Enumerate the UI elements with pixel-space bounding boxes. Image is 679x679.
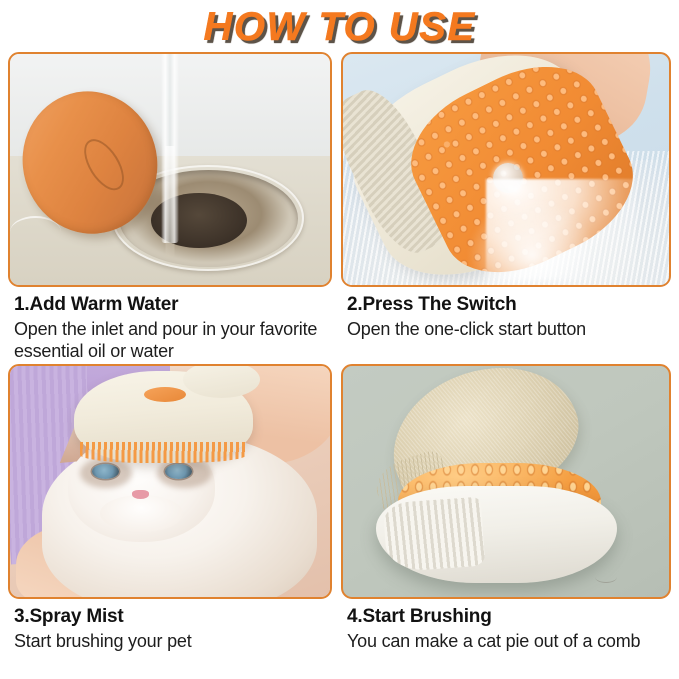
- power-button: [144, 387, 186, 402]
- step-card-1: 1.Add Warm Water Open the inlet and pour…: [0, 52, 332, 364]
- step-2-caption: 2.Press The Switch Open the one-click st…: [341, 287, 671, 340]
- cat-eye-left: [92, 464, 119, 479]
- how-to-use-infographic: HOW TO USE 1.Add Warm Water Open th: [0, 0, 679, 679]
- brush-bristle-row: [80, 442, 246, 463]
- water-stream-highlight: [166, 146, 175, 257]
- step-1-body: Open the inlet and pour in your favorite…: [14, 318, 332, 362]
- step-1-caption: 1.Add Warm Water Open the inlet and pour…: [8, 287, 332, 362]
- step-4-heading: 4.Start Brushing: [347, 605, 671, 629]
- lid-groove: [75, 133, 130, 197]
- steps-grid: 1.Add Warm Water Open the inlet and pour…: [0, 52, 679, 679]
- page-title: HOW TO USE: [203, 5, 475, 50]
- step-3-caption: 3.Spray Mist Start brushing your pet: [8, 599, 332, 652]
- cat-muzzle: [100, 495, 183, 532]
- step-4-caption: 4.Start Brushing You can make a cat pie …: [341, 599, 671, 652]
- step-4-photo: [341, 364, 671, 599]
- step-card-4: 4.Start Brushing You can make a cat pie …: [332, 364, 679, 679]
- steam-plume-lower: [467, 197, 597, 280]
- cat-nose: [132, 490, 150, 499]
- step-card-3: 3.Spray Mist Start brushing your pet: [0, 364, 332, 679]
- step-3-body: Start brushing your pet: [14, 630, 332, 652]
- step-2-body: Open the one-click start button: [347, 318, 671, 340]
- step-4-body: You can make a cat pie out of a comb: [347, 630, 671, 652]
- brand-mark-icon: [595, 571, 617, 583]
- step-2-heading: 2.Press The Switch: [347, 293, 671, 317]
- step-1-heading: 1.Add Warm Water: [14, 293, 332, 317]
- step-card-2: 2.Press The Switch Open the one-click st…: [332, 52, 679, 364]
- title-bar: HOW TO USE: [0, 0, 679, 52]
- step-2-photo: [341, 52, 671, 287]
- step-1-photo: [8, 52, 332, 287]
- step-3-heading: 3.Spray Mist: [14, 605, 332, 629]
- step-3-photo: [8, 364, 332, 599]
- comb-teeth: [383, 497, 485, 573]
